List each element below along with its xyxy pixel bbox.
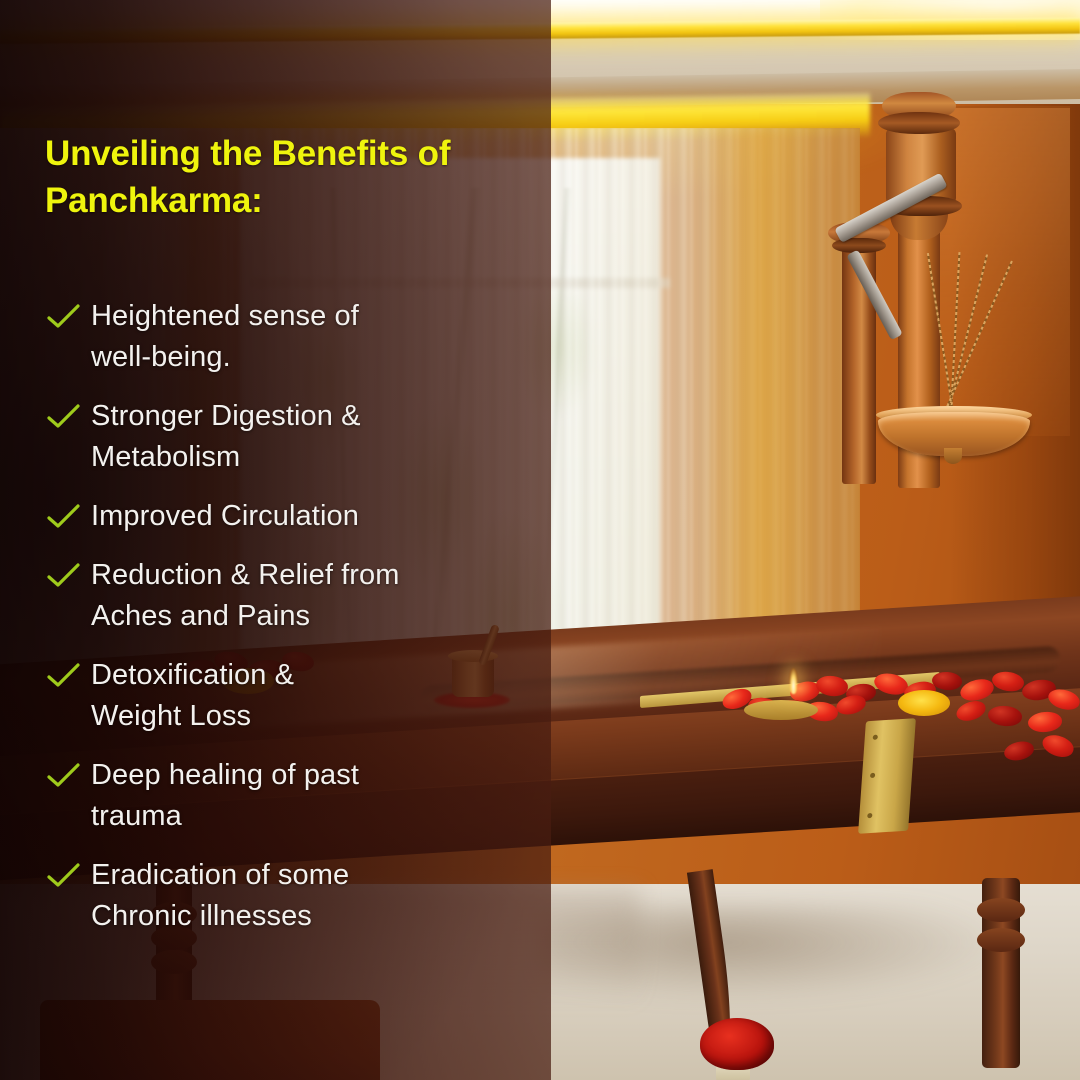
list-item-label: Heightened sense of well-being. xyxy=(91,296,359,378)
bracket-screw xyxy=(870,773,875,778)
page-title: Unveiling the Benefits of Panchkarma: xyxy=(45,131,525,224)
table-leg-bulb xyxy=(977,928,1025,952)
marigold-flower xyxy=(898,690,950,716)
benefits-list: Heightened sense of well-being. Stronger… xyxy=(45,296,545,955)
list-item-label: Reduction & Relief from Aches and Pains xyxy=(91,555,400,637)
bracket-screw xyxy=(867,813,872,818)
list-item-label: Detoxification & Weight Loss xyxy=(91,655,294,737)
list-item: Reduction & Relief from Aches and Pains xyxy=(45,555,545,637)
table-leg-bulb xyxy=(977,898,1025,922)
check-icon xyxy=(45,755,91,795)
diya-lamp-flame xyxy=(789,668,798,694)
diya-lamp-dish xyxy=(744,700,818,720)
panchkarma-benefits-poster: Unveiling the Benefits of Panchkarma: He… xyxy=(0,0,1080,1080)
bracket-screw xyxy=(873,735,878,740)
check-icon xyxy=(45,855,91,895)
list-item-label: Improved Circulation xyxy=(91,496,359,537)
check-icon xyxy=(45,555,91,595)
list-item: Eradication of some Chronic illnesses xyxy=(45,855,545,937)
list-item-label: Stronger Digestion & Metabolism xyxy=(91,396,361,478)
table-floor-shadow xyxy=(540,904,1000,1000)
list-item: Improved Circulation xyxy=(45,496,545,537)
stand-post-collar xyxy=(878,112,960,134)
list-item: Detoxification & Weight Loss xyxy=(45,655,545,737)
content-panel: Unveiling the Benefits of Panchkarma: He… xyxy=(0,0,551,1080)
list-item-label: Eradication of some Chronic illnesses xyxy=(91,855,349,937)
check-icon xyxy=(45,496,91,536)
check-icon xyxy=(45,396,91,436)
check-icon xyxy=(45,296,91,336)
list-item-label: Deep healing of past trauma xyxy=(91,755,359,837)
list-item: Stronger Digestion & Metabolism xyxy=(45,396,545,478)
list-item: Deep healing of past trauma xyxy=(45,755,545,837)
brass-bowl-base xyxy=(944,448,962,464)
wooden-stand-with-scale xyxy=(820,86,1030,486)
list-item: Heightened sense of well-being. xyxy=(45,296,545,378)
table-brass-bracket xyxy=(858,718,916,834)
floor-rose xyxy=(700,1018,774,1070)
check-icon xyxy=(45,655,91,695)
